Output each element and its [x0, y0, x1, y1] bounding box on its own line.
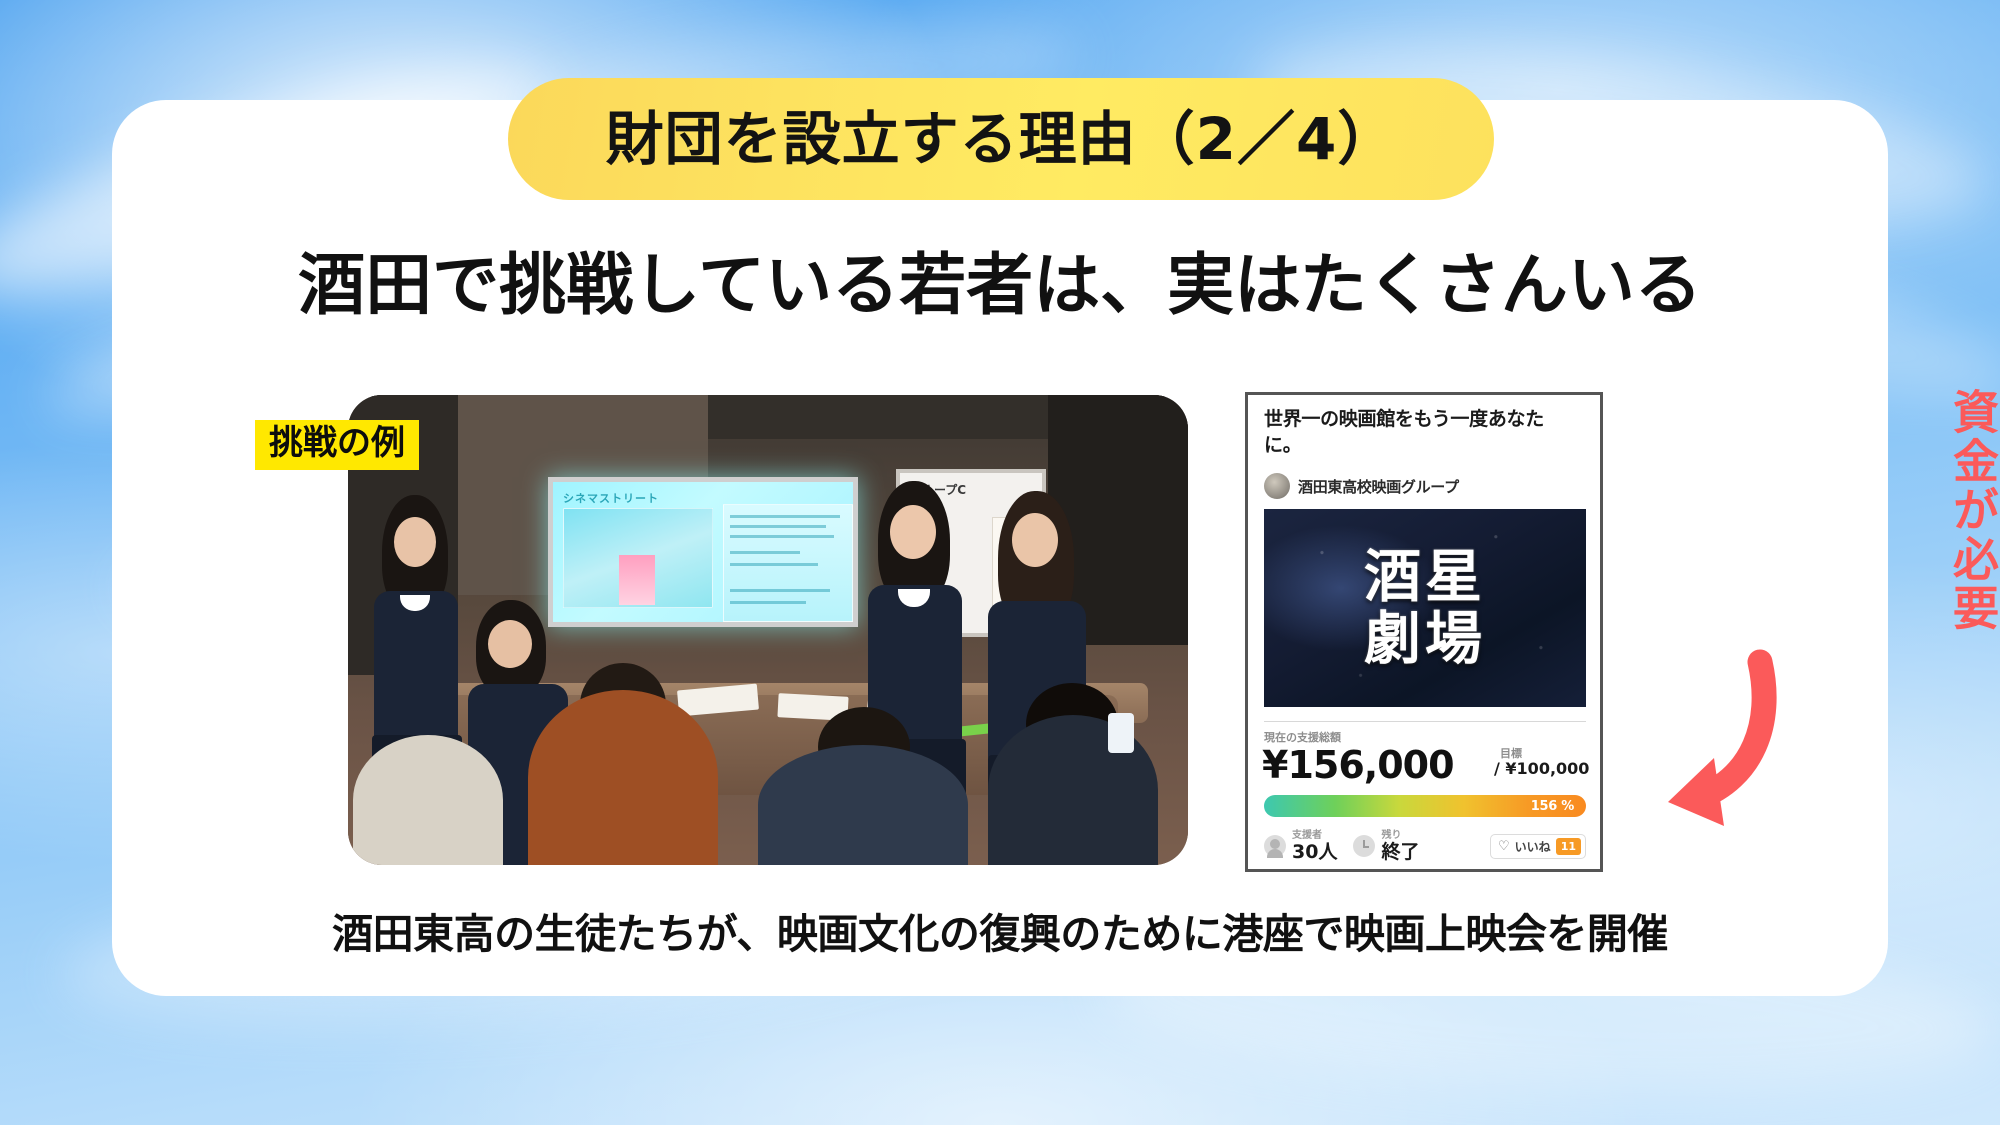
like-button[interactable]: ♡ いいね 11	[1490, 834, 1586, 859]
like-label: いいね	[1515, 838, 1551, 855]
avatar-icon	[1264, 473, 1290, 499]
example-badge: 挑戦の例	[255, 420, 419, 470]
stat-supporters: 支援者 30人	[1264, 831, 1337, 862]
slide-background: 財団を設立する理由（2／4） 酒田で挑戦している若者は、実はたくさんいる シネマ…	[0, 0, 2000, 1125]
projection-screen: シネマストリート	[548, 477, 858, 627]
poster-line-2: 劇場	[1364, 610, 1486, 668]
crowdfunding-stats: 支援者 30人 残り 終了 ♡ いいね 11	[1264, 829, 1586, 863]
like-count: 11	[1556, 838, 1581, 855]
person-icon	[1264, 835, 1286, 857]
photo-caption: 酒田東高の生徒たちが、映画文化の復興のために港座で映画上映会を開催	[112, 900, 1888, 960]
stat-label: 支援者	[1292, 831, 1337, 841]
audience-member	[758, 745, 968, 865]
slide-poster-thumb	[619, 555, 655, 605]
stat-label: 残り	[1381, 831, 1419, 841]
amount-value: ¥156,000	[1262, 743, 1454, 787]
stat-value: 30人	[1292, 843, 1337, 862]
example-badge-label: 挑戦の例	[269, 423, 405, 463]
headline: 酒田で挑戦している若者は、実はたくさんいる	[112, 248, 1888, 323]
presentation-photo: シネマストリート グループC	[348, 395, 1188, 865]
stat-remaining: 残り 終了	[1353, 831, 1419, 862]
page-title: 財団を設立する理由（2／4）	[606, 110, 1397, 168]
crowdfunding-author: 酒田東高校映画グループ	[1298, 476, 1459, 497]
crowdfunding-title: 世界一の映画館をもう一度あなたに。	[1264, 407, 1574, 458]
clock-icon	[1353, 835, 1375, 857]
slide-title-pill: 財団を設立する理由（2／4）	[508, 78, 1494, 200]
audience-member	[353, 735, 503, 865]
poster-line-1: 酒星	[1364, 548, 1486, 606]
slide-doc-thumb	[723, 504, 853, 622]
red-annotation: 挑戦には 資金が必要	[1628, 388, 2000, 633]
crowdfunding-author-row: 酒田東高校映画グループ	[1264, 473, 1459, 499]
smartphone	[1108, 713, 1134, 753]
curved-arrow-icon	[1528, 640, 1778, 830]
projection-screen-title: シネマストリート	[563, 490, 659, 506]
slide-photo-thumb	[563, 508, 713, 608]
heart-icon: ♡	[1498, 839, 1510, 854]
red-annotation-line-2: 資金が必要	[1950, 388, 1996, 633]
audience-member	[528, 690, 718, 865]
stat-value: 終了	[1381, 843, 1419, 862]
